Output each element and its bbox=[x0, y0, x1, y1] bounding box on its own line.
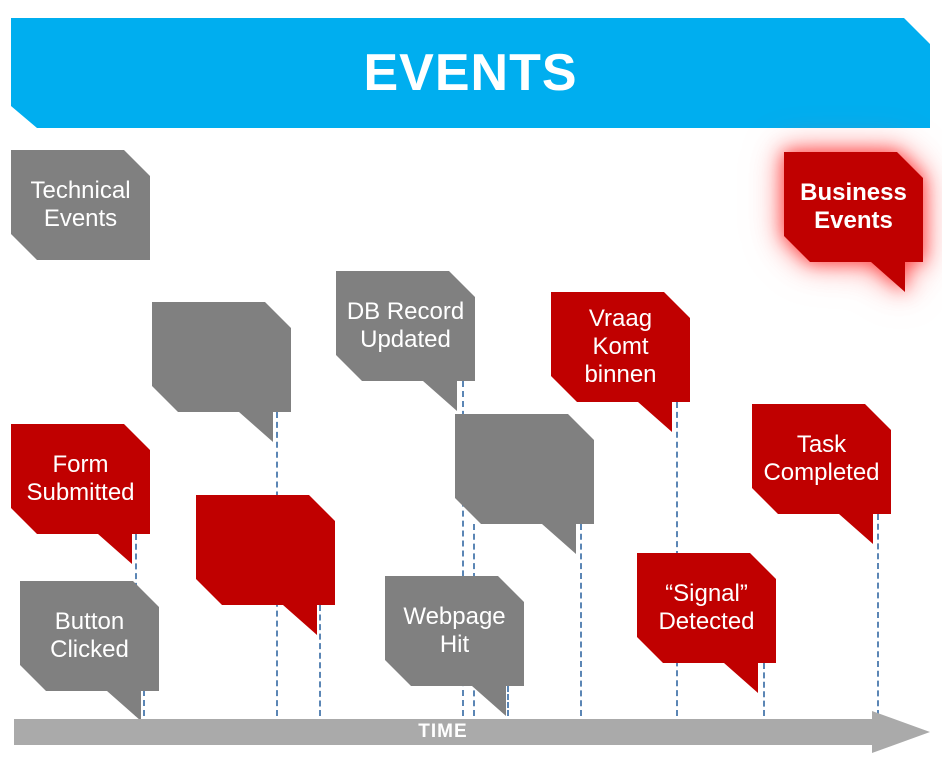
business-events-legend[interactable]: BusinessEvents bbox=[784, 152, 923, 262]
event-empty-gray-1-shape bbox=[152, 302, 291, 442]
event-form-submitted[interactable]: FormSubmitted bbox=[11, 424, 150, 534]
timeline-tick-line bbox=[580, 524, 582, 716]
event-empty-gray-1[interactable] bbox=[152, 302, 291, 412]
event-task-completed-label: TaskCompleted bbox=[752, 431, 891, 488]
time-axis-label: TIME bbox=[14, 711, 872, 753]
event-signal-detected-label: “Signal”Detected bbox=[637, 580, 776, 637]
business-events-legend-label: BusinessEvents bbox=[784, 179, 923, 236]
event-webpage-hit[interactable]: WebpageHit bbox=[385, 576, 524, 686]
diagram-canvas: EVENTS TechnicalEventsBusinessEventsDB R… bbox=[0, 0, 942, 759]
event-empty-red-1[interactable] bbox=[196, 495, 335, 605]
event-form-submitted-label: FormSubmitted bbox=[11, 451, 150, 508]
event-empty-red-1-shape bbox=[196, 495, 335, 635]
event-empty-gray-2[interactable] bbox=[455, 414, 594, 524]
timeline-tick-line bbox=[877, 514, 879, 716]
event-button-clicked-label: ButtonClicked bbox=[20, 608, 159, 665]
page-title: EVENTS bbox=[11, 18, 930, 128]
event-db-record-updated[interactable]: DB RecordUpdated bbox=[336, 271, 475, 381]
event-signal-detected[interactable]: “Signal”Detected bbox=[637, 553, 776, 663]
event-db-record-updated-label: DB RecordUpdated bbox=[336, 298, 475, 355]
timeline-tick-line bbox=[763, 663, 765, 716]
timeline-tick-line bbox=[319, 605, 321, 716]
event-webpage-hit-label: WebpageHit bbox=[385, 603, 524, 660]
technical-events-legend-label: TechnicalEvents bbox=[11, 177, 150, 234]
event-empty-gray-2-shape bbox=[455, 414, 594, 554]
event-vraag-komt-binnen-label: VraagKomtbinnen bbox=[551, 305, 690, 390]
event-vraag-komt-binnen[interactable]: VraagKomtbinnen bbox=[551, 292, 690, 402]
event-button-clicked[interactable]: ButtonClicked bbox=[20, 581, 159, 691]
events-header-banner: EVENTS bbox=[11, 18, 930, 128]
technical-events-legend[interactable]: TechnicalEvents bbox=[11, 150, 150, 260]
event-task-completed[interactable]: TaskCompleted bbox=[752, 404, 891, 514]
